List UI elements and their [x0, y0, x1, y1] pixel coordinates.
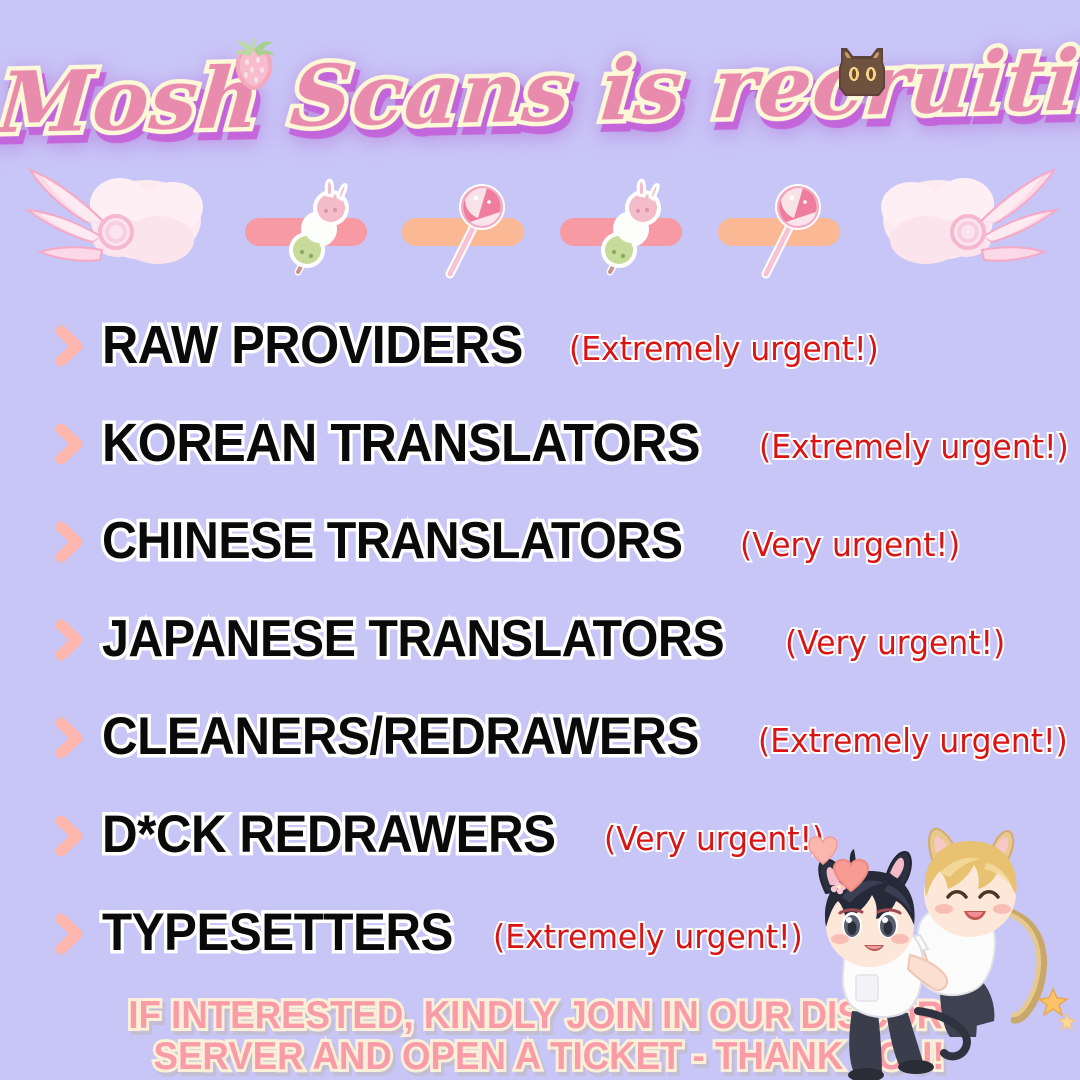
- role-urgency-note: (Extremely urgent!): [758, 721, 1068, 761]
- chibi-catboys-illustration: [790, 815, 1080, 1080]
- chevron-right-icon: [56, 424, 82, 464]
- pixel-cat-head-icon: [833, 44, 891, 100]
- role-label: JAPANESE TRANSLATORS: [102, 611, 724, 667]
- chevron-right-icon: [56, 326, 82, 366]
- chevron-right-icon: [56, 620, 82, 660]
- role-label: TYPESETTERS: [102, 905, 453, 961]
- poster-title-text: Mosh Scans is recruiting!: [0, 21, 1080, 159]
- chevron-right-icon: [56, 522, 82, 562]
- role-label: CHINESE TRANSLATORS: [102, 513, 682, 569]
- role-label: RAW PROVIDERS: [102, 317, 523, 373]
- role-urgency-note: (Extremely urgent!): [569, 329, 879, 369]
- list-item: JAPANESE TRANSLATORS (Very urgent!): [0, 590, 1080, 688]
- chevron-right-icon: [56, 816, 82, 856]
- star-icon: [1058, 1013, 1076, 1031]
- role-label: KOREAN TRANSLATORS: [102, 415, 700, 471]
- chevron-right-icon: [56, 718, 82, 758]
- role-urgency-note: (Extremely urgent!): [759, 427, 1069, 467]
- role-label: CLEANERS/REDRAWERS: [102, 709, 699, 765]
- lollipop-icon: [748, 172, 826, 282]
- recruitment-poster: Mosh Scans is recruiting!: [0, 0, 1080, 1080]
- poster-title: Mosh Scans is recruiting!: [0, 34, 1080, 154]
- dango-bunny-skewer-icon: [282, 172, 360, 282]
- angel-wing-cloud-left-icon: [8, 162, 203, 277]
- role-urgency-note: (Very urgent!): [740, 525, 960, 565]
- list-item: CLEANERS/REDRAWERS (Extremely urgent!): [0, 688, 1080, 786]
- chevron-right-icon: [56, 914, 82, 954]
- role-label: D*CK REDRAWERS: [102, 807, 556, 863]
- angel-wing-cloud-right-icon: [881, 162, 1076, 277]
- lollipop-icon: [432, 172, 510, 282]
- role-urgency-note: (Extremely urgent!): [493, 917, 803, 957]
- role-urgency-note: (Very urgent!): [785, 623, 1005, 663]
- list-item: KOREAN TRANSLATORS (Extremely urgent!): [0, 394, 1080, 492]
- strawberry-icon: [228, 36, 280, 92]
- heart-icon: [832, 857, 870, 893]
- list-item: RAW PROVIDERS (Extremely urgent!): [0, 296, 1080, 394]
- list-item: CHINESE TRANSLATORS (Very urgent!): [0, 492, 1080, 590]
- dango-bunny-skewer-icon: [594, 172, 672, 282]
- decorative-divider: [0, 160, 1080, 290]
